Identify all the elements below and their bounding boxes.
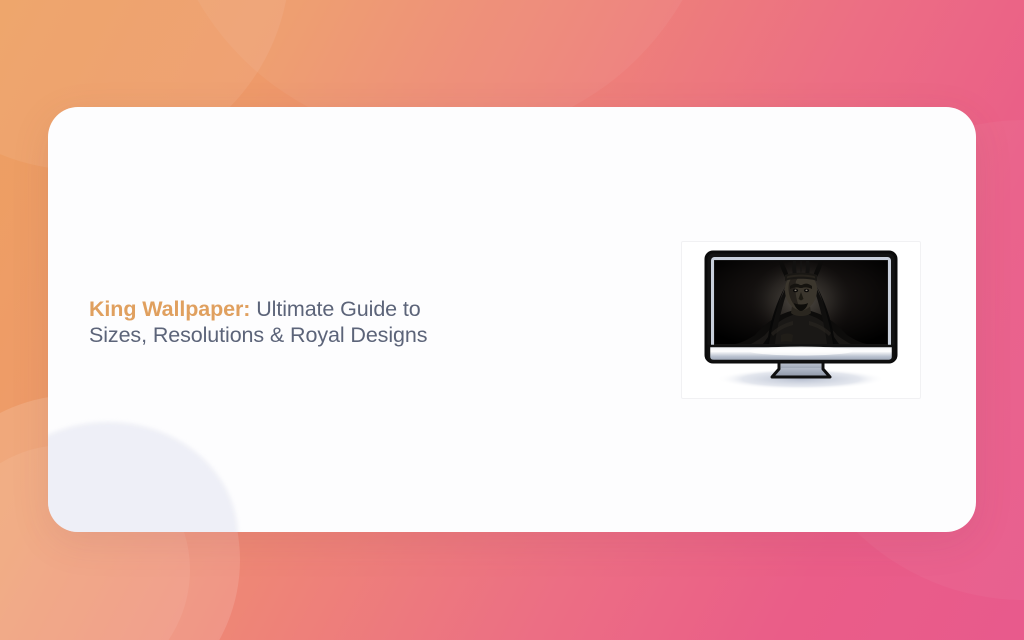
card-content-row: King Wallpaper: Ultimate Guide to Sizes,… bbox=[48, 107, 976, 532]
monitor-illustration-icon bbox=[697, 247, 905, 393]
page-canvas: King Wallpaper: Ultimate Guide to Sizes,… bbox=[0, 0, 1024, 640]
page-title-accent: King Wallpaper: bbox=[89, 297, 250, 321]
page-title: King Wallpaper: Ultimate Guide to Sizes,… bbox=[89, 296, 478, 348]
illustration-frame bbox=[681, 241, 921, 399]
monitor-chin-bar bbox=[709, 346, 893, 361]
headline-block: King Wallpaper: Ultimate Guide to Sizes,… bbox=[48, 296, 478, 348]
content-card: King Wallpaper: Ultimate Guide to Sizes,… bbox=[48, 107, 976, 532]
